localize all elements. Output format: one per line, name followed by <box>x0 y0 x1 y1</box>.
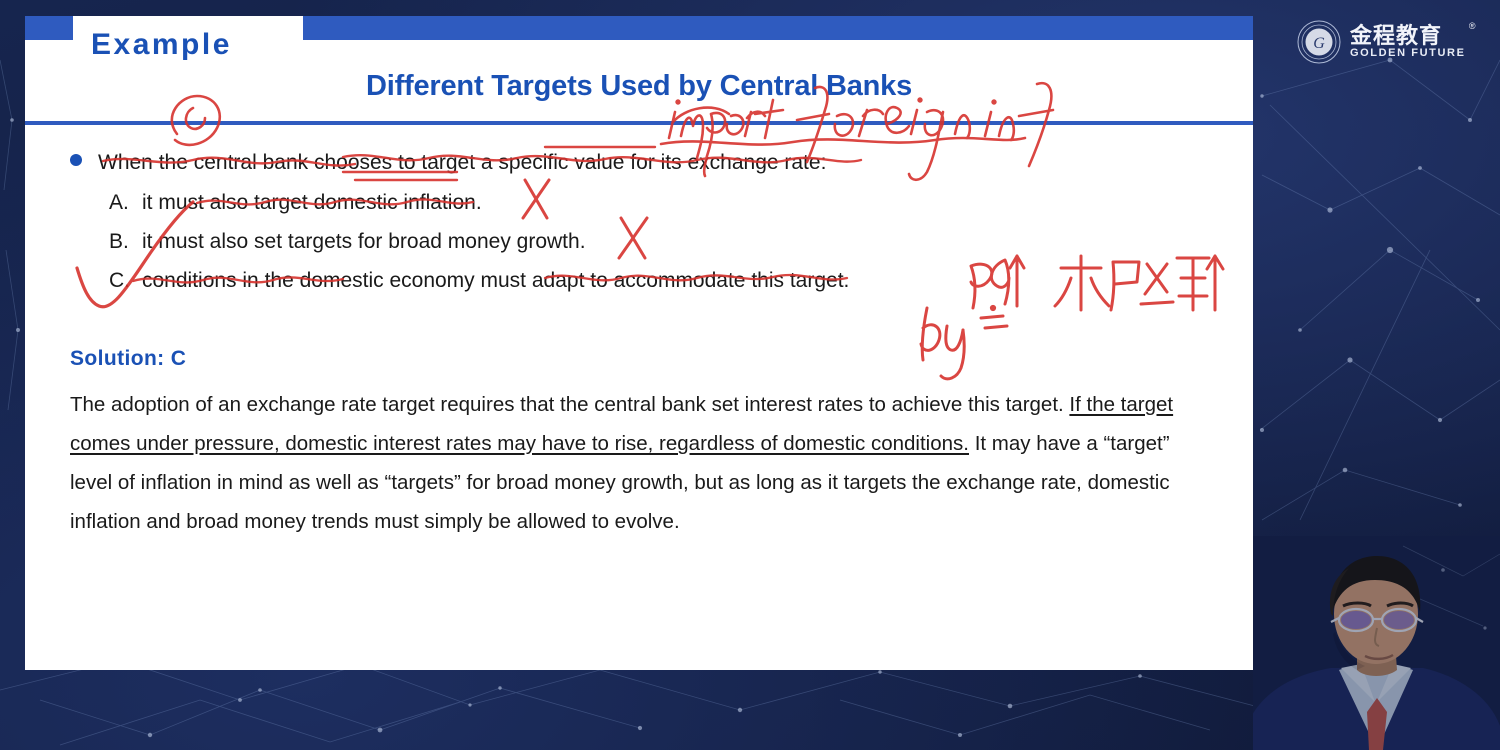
handwriting-buy <box>921 306 1007 378</box>
logo-seal-icon: G <box>1296 19 1342 65</box>
svg-text:G: G <box>1313 35 1325 52</box>
handwritten-annotation-layer <box>25 16 1253 670</box>
brand-logo: G 金程教育 ® GOLDEN FUTURE <box>1296 16 1486 68</box>
bullet-dot-icon <box>70 154 82 166</box>
presentation-slide: Example Different Targets Used by Centra… <box>25 16 1253 670</box>
question-bullet: When the central bank chooses to target … <box>70 151 826 175</box>
solution-part-one: The adoption of an exchange rate target … <box>70 393 1069 416</box>
option-a-text: it must also target domestic inflation. <box>142 191 482 215</box>
slide-tab-label: Example <box>91 28 232 62</box>
x-mark-option-b <box>619 218 647 258</box>
option-b-text: it must also set targets for broad money… <box>142 230 586 254</box>
title-divider <box>25 119 1253 127</box>
question-text: When the central bank chooses to target … <box>98 151 826 175</box>
registered-mark-icon: ® <box>1469 22 1477 31</box>
solution-paragraph: The adoption of an exchange rate target … <box>70 385 1210 541</box>
option-b: B. it must also set targets for broad mo… <box>109 230 586 254</box>
logo-chinese-name: 金程教育 ® <box>1350 25 1466 47</box>
option-c-text: conditions in the domestic economy must … <box>142 269 849 293</box>
solution-heading: Solution: C <box>70 347 186 371</box>
option-b-letter: B. <box>109 230 131 254</box>
option-a: A. it must also target domestic inflatio… <box>109 191 482 215</box>
option-c: C. conditions in the domestic economy mu… <box>109 269 849 293</box>
x-mark-option-a <box>523 180 549 218</box>
presenter-video-overlay <box>1253 536 1500 750</box>
slide-title: Different Targets Used by Central Banks <box>25 70 1253 103</box>
video-player-frame: Example Different Targets Used by Centra… <box>0 0 1500 750</box>
option-c-letter: C. <box>109 269 131 293</box>
option-a-letter: A. <box>109 191 131 215</box>
handwriting-chinese-appreciation <box>1055 256 1223 310</box>
logo-english-name: GOLDEN FUTURE <box>1350 48 1466 59</box>
logo-wordmark: 金程教育 ® GOLDEN FUTURE <box>1350 25 1466 59</box>
handwriting-pd-up <box>971 256 1024 308</box>
logo-chinese-text: 金程教育 <box>1350 23 1442 48</box>
